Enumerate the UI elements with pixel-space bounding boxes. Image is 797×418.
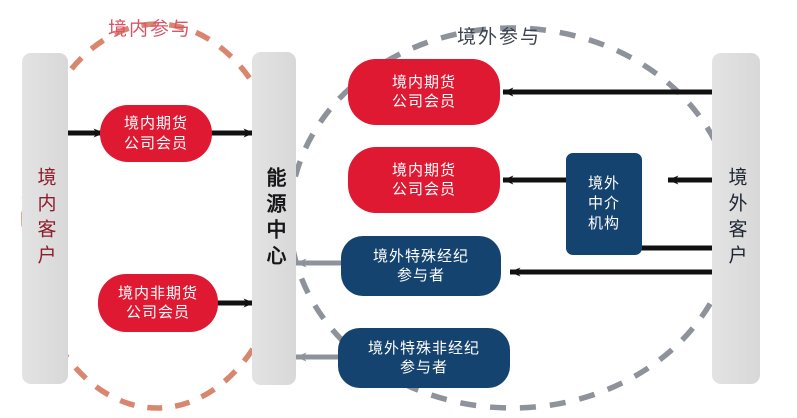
- overseas-participation-caption: 境外参与: [457, 22, 541, 49]
- node-line-2: 公司会员: [392, 92, 456, 111]
- pillar-domestic-clients[interactable]: 境内客户: [22, 53, 68, 384]
- pillar-domestic-clients-label: 境内客户: [36, 167, 55, 271]
- node-line-2: 参与者: [397, 266, 445, 285]
- node-domestic-futures-company-member-row2[interactable]: 境内期货 公司会员: [348, 147, 500, 213]
- node-line-2: 公司会员: [392, 180, 456, 199]
- node-line-1: 境内非期货: [118, 284, 198, 303]
- pillar-overseas-clients-label: 境外客户: [727, 167, 746, 271]
- node-line-2: 公司会员: [126, 303, 190, 322]
- pillar-energy-center[interactable]: 能源中心: [252, 52, 296, 385]
- node-domestic-futures-company-member-row1[interactable]: 境内期货 公司会员: [348, 59, 500, 125]
- pillar-overseas-clients[interactable]: 境外客户: [712, 53, 760, 384]
- node-overseas-special-nonbroker-participant[interactable]: 境外特殊非经纪 参与者: [338, 328, 510, 388]
- pillar-energy-center-label: 能源中心: [264, 167, 284, 271]
- node-domestic-futures-company-member-left[interactable]: 境内期货 公司会员: [100, 105, 212, 162]
- node-line-1: 境外特殊经纪: [373, 247, 469, 266]
- node-domestic-nonfutures-company-member[interactable]: 境内非期货 公司会员: [98, 274, 218, 332]
- node-overseas-intermediary-institution[interactable]: 境外 中介 机构: [566, 153, 642, 255]
- node-line-2: 参与者: [400, 358, 448, 377]
- node-line-1: 境内期货: [392, 73, 456, 92]
- node-line-1: 境内期货: [392, 161, 456, 180]
- node-line-1: 境外: [588, 174, 620, 194]
- node-line-1: 境内期货: [124, 114, 188, 133]
- diagram-canvas: 境内参与 境外参与 境内客户 能源中心 境外客户 境内期货 公司会员 境内非期货…: [0, 0, 797, 418]
- node-line-1: 境外特殊非经纪: [368, 339, 480, 358]
- domestic-participation-caption: 境内参与: [108, 14, 192, 41]
- node-line-3: 机构: [588, 214, 620, 234]
- node-overseas-special-broker-participant[interactable]: 境外特殊经纪 参与者: [341, 236, 501, 296]
- node-line-2: 公司会员: [124, 134, 188, 153]
- node-line-2: 中介: [588, 194, 620, 214]
